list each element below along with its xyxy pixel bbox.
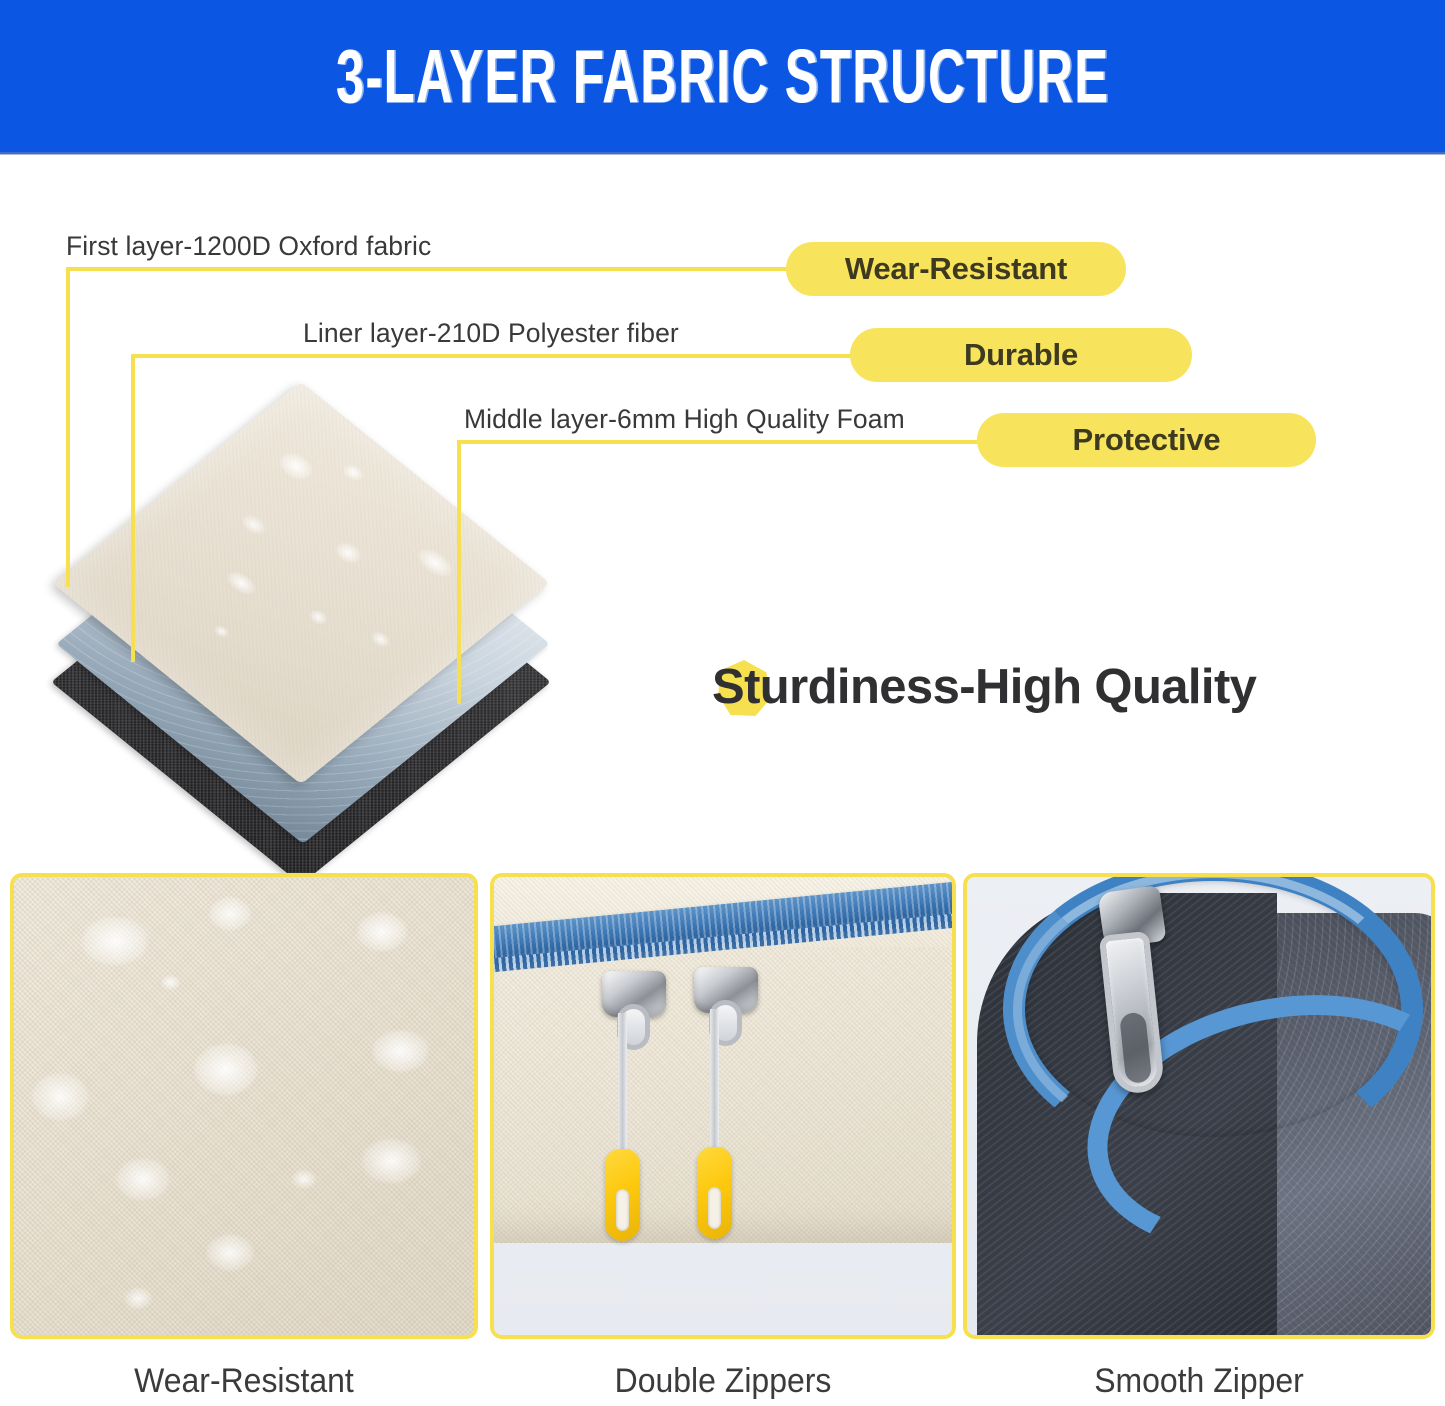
leader-line-vertical-2 [131,354,135,662]
yellow-pull-tab-right [697,1147,732,1239]
yellow-pull-tab-left [605,1149,640,1241]
zipper-cord-left [618,1013,627,1163]
zipper-pull-left [602,971,666,1017]
badge-durable: Durable [850,328,1192,382]
feature-photo-gallery [0,873,1445,1343]
caption-smooth-zipper: Smooth Zipper [977,1358,1421,1404]
annotation-label-liner-layer: Liner layer-210D Polyester fiber [303,318,679,349]
fabric-layer-stack-image [14,424,714,844]
badge-wear-resistant: Wear-Resistant [786,242,1126,296]
zipper-cord-right [710,1009,719,1161]
sturdiness-headline: Sturdiness-High Quality [712,652,1256,722]
photo-panel-wear-resistant [10,873,478,1339]
zipper-pull-right [694,967,758,1013]
fabric-structure-diagram: First layer-1200D Oxford fabric Liner la… [0,154,1445,860]
badge-protective: Protective [977,413,1316,467]
product-infographic: 3-LAYER FABRIC STRUCTURE First layer-120… [0,0,1445,1406]
metal-zipper-pull [1095,889,1167,1119]
leader-line-horizontal-3 [457,440,995,444]
water-beads-fabric-photo [14,877,474,1335]
leader-line-horizontal-1 [66,267,808,271]
annotation-label-first-layer: First layer-1200D Oxford fabric [66,231,431,262]
leader-line-vertical-3 [457,440,461,704]
photo-panel-double-zippers [490,873,956,1339]
zipper-pull-plate [1099,931,1165,1095]
leader-line-horizontal-2 [131,354,871,358]
caption-double-zippers: Double Zippers [504,1358,942,1404]
annotation-label-middle-layer: Middle layer-6mm High Quality Foam [464,404,905,435]
page-title: 3-LAYER FABRIC STRUCTURE [336,34,1109,121]
header-banner: 3-LAYER FABRIC STRUCTURE [0,0,1445,154]
sturdiness-headline-text: Sturdiness-High Quality [712,659,1256,715]
leader-line-vertical-1 [66,267,70,587]
photo-panel-smooth-zipper [963,873,1435,1339]
caption-wear-resistant: Wear-Resistant [24,1358,464,1404]
